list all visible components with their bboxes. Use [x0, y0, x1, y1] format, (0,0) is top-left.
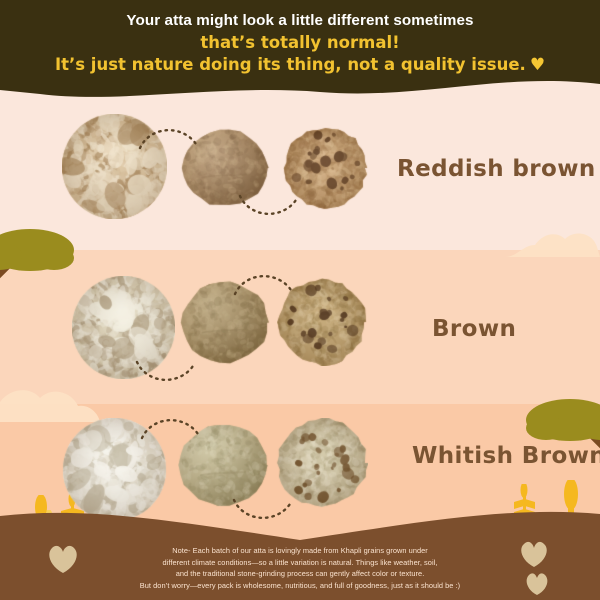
row-2-flour [72, 276, 175, 379]
header-line-1: Your atta might look a little different … [126, 11, 473, 30]
footer-note-line-3: and the traditional stone-grinding proce… [0, 568, 600, 580]
row-2-label: Brown [432, 316, 516, 342]
row-1-dough-ball [180, 128, 270, 208]
yellow-heart-icon: ♥ [530, 57, 545, 74]
footer-note-line-4: But don’t worry—every pack is wholesome,… [0, 580, 600, 592]
row-1-roti [283, 126, 368, 210]
row-1-label: Reddish brown [397, 156, 596, 182]
row-2-roti [277, 278, 367, 366]
row-1-flour [62, 114, 167, 219]
poster-canvas: Your atta might look a little different … [0, 0, 600, 600]
footer-note-line-1: Note- Each batch of our atta is lovingly… [0, 545, 600, 557]
footer-note-line-2: different climate conditions—so a little… [0, 557, 600, 569]
row-3-label: Whitish Brown [412, 443, 600, 469]
header-line-3: It’s just nature doing its thing, not a … [55, 54, 526, 76]
row-2-dough-ball [180, 280, 270, 365]
header-banner: Your atta might look a little different … [0, 0, 600, 112]
footer-note: Note- Each batch of our atta is lovingly… [0, 545, 600, 591]
header-line-2: that’s totally normal! [200, 32, 399, 54]
header-line-3-row: It’s just nature doing its thing, not a … [55, 54, 545, 76]
